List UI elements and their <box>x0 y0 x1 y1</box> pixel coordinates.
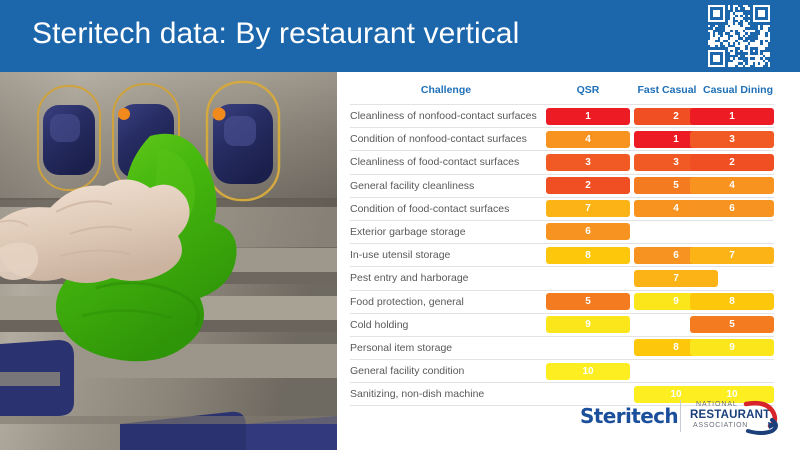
challenge-label: Cold holding <box>350 317 408 333</box>
challenge-label: Exterior garbage storage <box>350 224 466 240</box>
table-row: Condition of food-contact surfaces746 <box>350 197 774 220</box>
photo-illustration <box>0 72 337 450</box>
challenge-label: Condition of nonfood-contact surfaces <box>350 131 527 147</box>
challenge-label: Sanitizing, non-dish machine <box>350 386 484 402</box>
table-row: General facility condition10 <box>350 359 774 382</box>
table-body: Cleanliness of nonfood-contact surfaces1… <box>350 104 774 406</box>
table-row: Pest entry and harborage7 <box>350 266 774 289</box>
rank-cell-casual-dining: 7 <box>690 247 774 264</box>
challenge-label: Cleanliness of food-contact surfaces <box>350 154 519 170</box>
rank-cell-casual-dining: 2 <box>690 154 774 171</box>
table-row: Food protection, general598 <box>350 290 774 313</box>
logo-lockup: Steritech NATIONAL RESTAURANT ASSOCIATIO… <box>580 396 780 440</box>
challenge-label: Pest entry and harborage <box>350 270 469 286</box>
rank-cell-casual-dining: 9 <box>690 339 774 356</box>
rank-cell-qsr <box>546 270 630 287</box>
table-row: Exterior garbage storage6 <box>350 220 774 243</box>
challenge-label: Food protection, general <box>350 294 464 310</box>
challenge-label: Personal item storage <box>350 340 452 356</box>
rank-cell-casual-dining: 8 <box>690 293 774 310</box>
challenge-label: Condition of food-contact surfaces <box>350 201 509 217</box>
rank-cell-qsr: 6 <box>546 223 630 240</box>
rank-cell-qsr: 10 <box>546 363 630 380</box>
rank-cell-casual-dining <box>690 270 774 287</box>
rank-cell-qsr: 4 <box>546 131 630 148</box>
challenge-label: General facility condition <box>350 363 464 379</box>
table-header-row: Challenge QSR Fast Casual Casual Dining <box>350 84 774 104</box>
rank-cell-casual-dining: 1 <box>690 108 774 125</box>
rank-cell-casual-dining: 4 <box>690 177 774 194</box>
column-header-qsr: QSR <box>546 84 630 96</box>
rank-cell-qsr: 8 <box>546 247 630 264</box>
challenge-label: General facility cleanliness <box>350 178 474 194</box>
rank-cell-qsr <box>546 339 630 356</box>
rank-cell-casual-dining <box>690 363 774 380</box>
column-header-casual-dining: Casual Dining <box>702 84 774 96</box>
rank-cell-qsr: 5 <box>546 293 630 310</box>
national-restaurant-association-logo: NATIONAL RESTAURANT ASSOCIATION <box>690 400 780 436</box>
slide: Steritech data: By restaurant vertical <box>0 0 800 450</box>
photo-dispenser-cleaning <box>0 72 337 450</box>
table-row: Cold holding95 <box>350 313 774 336</box>
header-band: Steritech data: By restaurant vertical <box>0 0 800 72</box>
rank-cell-casual-dining <box>690 223 774 240</box>
table-row: Cleanliness of food-contact surfaces332 <box>350 150 774 173</box>
table-row: Condition of nonfood-contact surfaces413 <box>350 127 774 150</box>
rank-cell-qsr: 3 <box>546 154 630 171</box>
rank-cell-qsr: 1 <box>546 108 630 125</box>
rank-cell-qsr: 2 <box>546 177 630 194</box>
rank-cell-qsr: 9 <box>546 316 630 333</box>
steritech-logo: Steritech <box>580 404 678 428</box>
nra-line-association: ASSOCIATION <box>693 422 748 429</box>
logo-divider <box>680 400 681 432</box>
challenge-label: Cleanliness of nonfood-contact surfaces <box>350 108 537 124</box>
column-header-fast-casual: Fast Casual <box>634 84 700 96</box>
rank-cell-casual-dining: 6 <box>690 200 774 217</box>
table-row: In-use utensil storage867 <box>350 243 774 266</box>
rank-cell-casual-dining: 3 <box>690 131 774 148</box>
table-row: Cleanliness of nonfood-contact surfaces1… <box>350 104 774 127</box>
rank-cell-casual-dining: 5 <box>690 316 774 333</box>
nra-swoosh-icon <box>742 398 782 436</box>
table-row: Personal item storage89 <box>350 336 774 359</box>
nra-line-national: NATIONAL <box>696 401 738 408</box>
table-row: General facility cleanliness254 <box>350 174 774 197</box>
column-header-challenge: Challenge <box>350 84 542 96</box>
qr-code-icon <box>708 5 770 67</box>
page-title: Steritech data: By restaurant vertical <box>32 17 519 51</box>
challenge-rank-table: Challenge QSR Fast Casual Casual Dining … <box>350 84 774 406</box>
rank-cell-qsr: 7 <box>546 200 630 217</box>
challenge-label: In-use utensil storage <box>350 247 450 263</box>
